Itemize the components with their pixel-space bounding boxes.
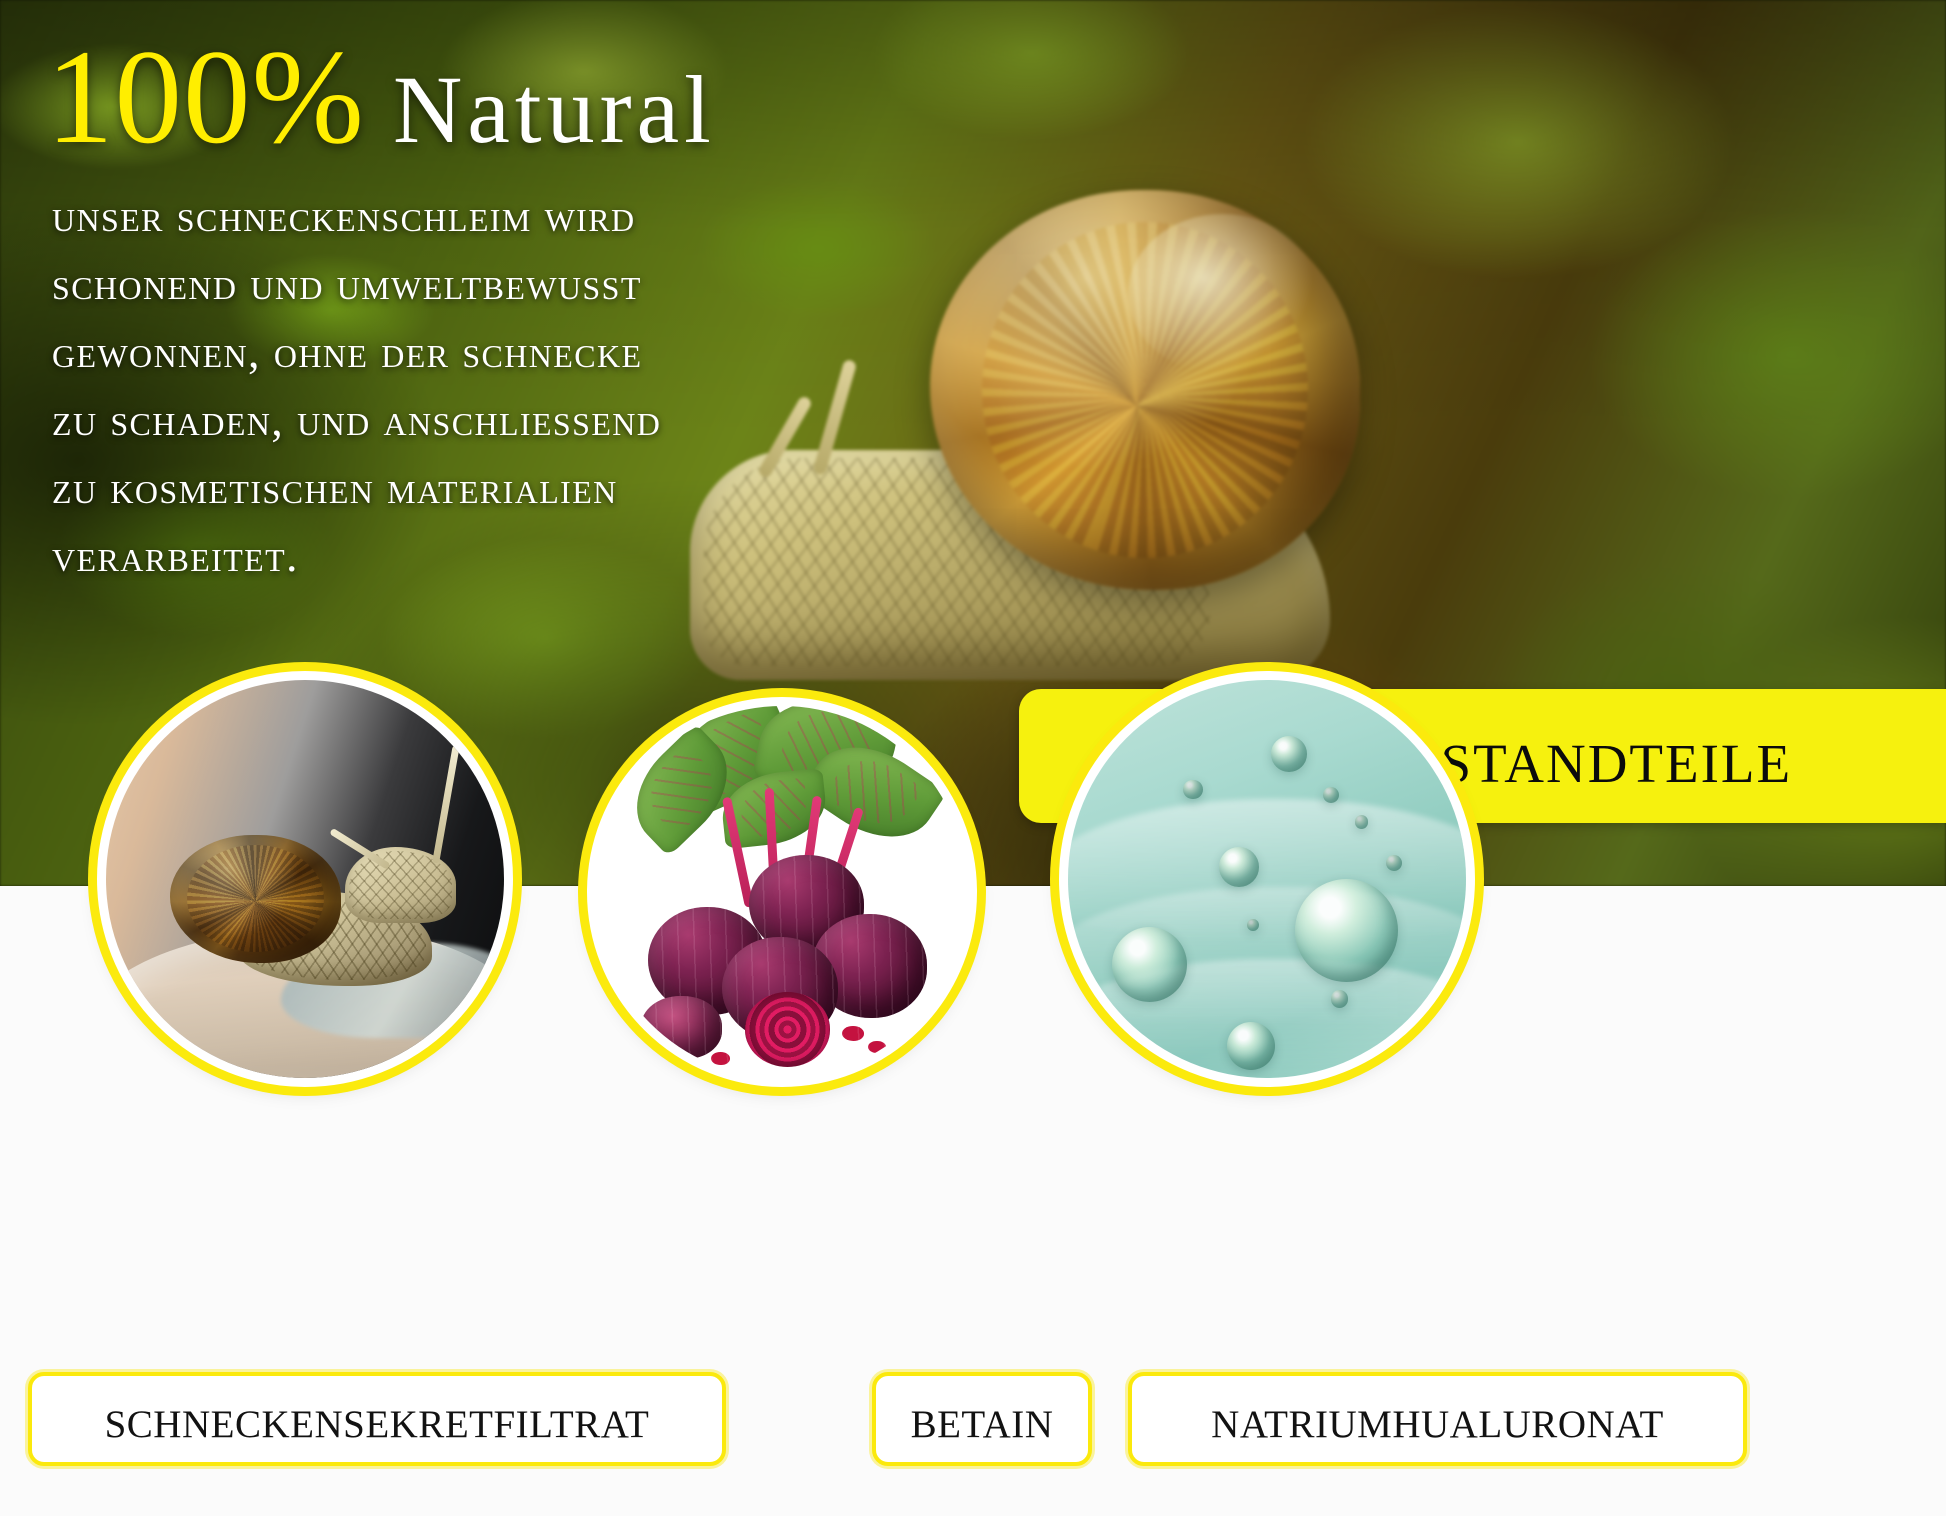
ingredient-label-hyaluronate[interactable]: Natriumhualuronat	[1128, 1372, 1747, 1466]
beet-seed-3	[711, 1052, 730, 1065]
ingredient-label-hyaluronate-text: Natriumhualuronat	[1211, 1387, 1664, 1451]
beet-bulb-half	[641, 996, 723, 1059]
hero-paragraph-line-2: schonend und umweltbewusst	[52, 250, 812, 318]
ingredient-image-beetroot	[587, 697, 977, 1087]
headline-percent: 100%	[46, 30, 365, 165]
droplet-small-4	[1247, 919, 1259, 931]
ingredient-label-snail[interactable]: Schneckensekretfiltrat	[28, 1372, 726, 1466]
product-ingredient-poster: 100%Natural Unser Schneckenschleim wird …	[0, 0, 1946, 1516]
hero-paragraph-line-6: verarbeitet.	[52, 522, 812, 590]
ingredient-image-droplets	[1059, 671, 1475, 1087]
snail-photo	[106, 680, 504, 1078]
hero-paragraph-line-1: Unser Schneckenschleim wird	[52, 182, 812, 250]
hero-snail-shell	[930, 190, 1360, 590]
ingredient-label-betain-text: Betain	[911, 1387, 1054, 1451]
droplet-medium-center	[1219, 847, 1259, 887]
droplet-small-3	[1355, 815, 1369, 829]
droplet-top	[1271, 736, 1307, 772]
hero-paragraph-line-4: zu schaden, und anschliessend	[52, 386, 812, 454]
ingredient-image-snail	[97, 671, 513, 1087]
hero-paragraph-line-5: zu kosmetischen Materialien	[52, 454, 812, 522]
ingredient-label-snail-text: Schneckensekretfiltrat	[105, 1387, 650, 1451]
droplet-small-1	[1183, 780, 1203, 800]
headline-word: Natural	[393, 62, 716, 158]
hero-paragraph: Unser Schneckenschleim wird schonend und…	[52, 182, 812, 590]
droplet-bottom	[1227, 1022, 1275, 1070]
droplet-small-6	[1331, 990, 1349, 1008]
droplet-small-2	[1323, 787, 1339, 803]
ingredient-label-betain[interactable]: Betain	[872, 1372, 1092, 1466]
beet-slice	[745, 992, 831, 1066]
hero-paragraph-line-3: gewonnen, ohne der Schnecke	[52, 318, 812, 386]
page-title: 100%Natural	[46, 30, 1046, 165]
beetroot-photo	[596, 706, 968, 1078]
beet-seed-1	[842, 1026, 864, 1041]
droplet-large	[1295, 879, 1398, 982]
beet-seed-2	[868, 1041, 887, 1054]
snail-shell	[170, 835, 341, 962]
water-droplets-photo	[1068, 680, 1466, 1078]
snail-tentacle-long	[432, 745, 460, 864]
